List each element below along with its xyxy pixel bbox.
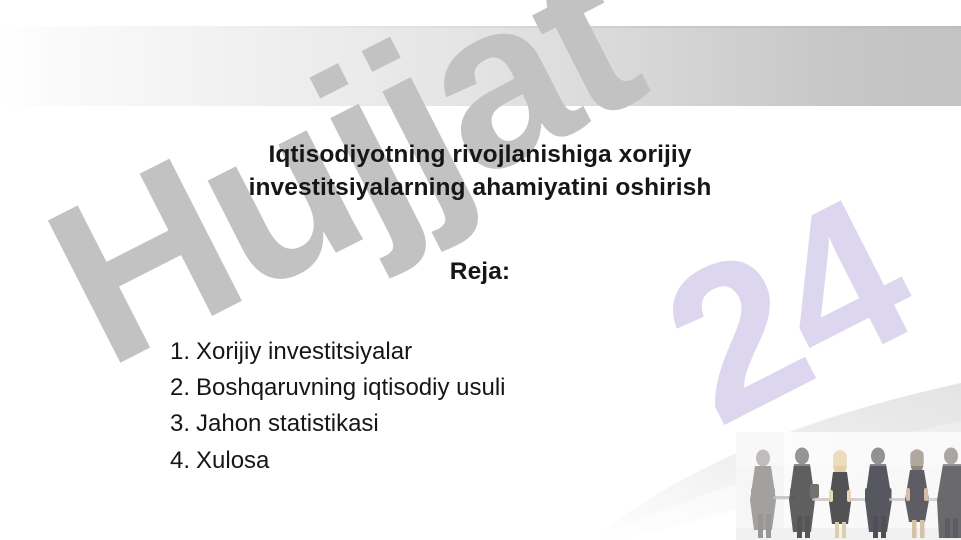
watermark-24-band-clip: 24 [0, 28, 961, 106]
slide-title-line-2: investitsiyalarning ahamiyatini oshirish [160, 171, 800, 204]
slide-title: Iqtisodiyotning rivojlanishiga xorijiy i… [160, 138, 800, 204]
list-item: 3. Jahon statistikasi [170, 406, 790, 442]
slide-title-line-1: Iqtisodiyotning rivojlanishiga xorijiy [160, 138, 800, 171]
list-item-label: Boshqaruvning iqtisodiy usuli [196, 370, 506, 406]
agenda-list: 1. Xorijiy investitsiyalar 2. Boshqaruvn… [170, 334, 790, 479]
list-item-label: Xulosa [196, 443, 269, 479]
list-item-number: 3. [170, 406, 196, 442]
list-item: 1. Xorijiy investitsiyalar [170, 334, 790, 370]
section-heading-reja: Reja: [160, 258, 800, 286]
list-item-label: Xorijiy investitsiyalar [196, 334, 412, 370]
list-item-number: 4. [170, 443, 196, 479]
list-item: 2. Boshqaruvning iqtisodiy usuli [170, 370, 790, 406]
list-item-number: 1. [170, 334, 196, 370]
list-item-label: Jahon statistikasi [196, 406, 379, 442]
list-item-number: 2. [170, 370, 196, 406]
list-item: 4. Xulosa [170, 443, 790, 479]
presentation-slide: Hujjat 24 24 [0, 0, 961, 540]
